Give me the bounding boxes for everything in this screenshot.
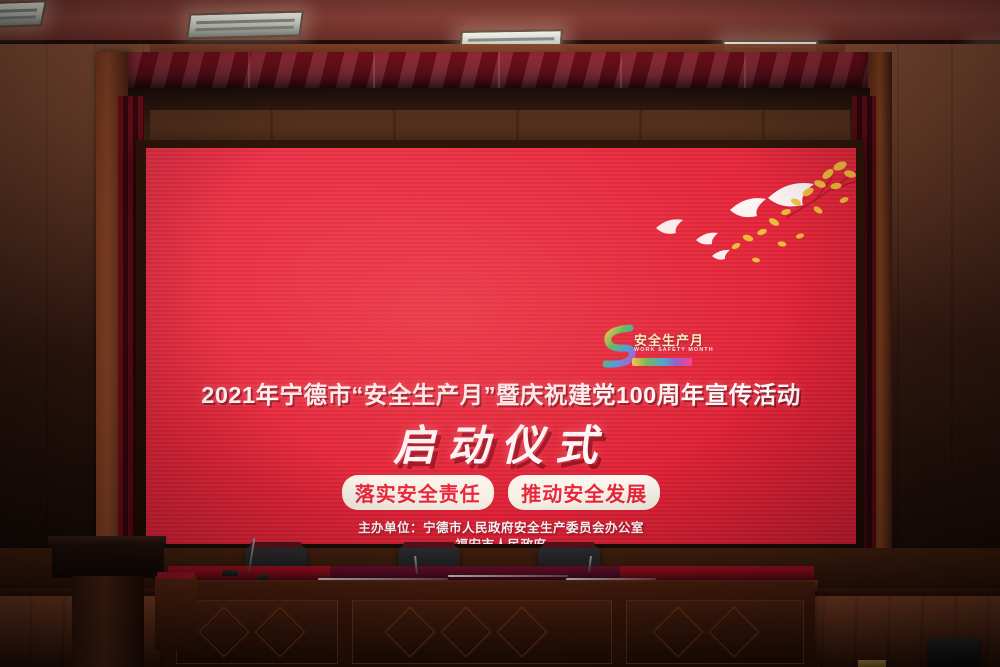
- podium-body: [72, 576, 144, 667]
- event-headline: 2021年宁德市“安全生产月”暨庆祝建党100周年宣传活动: [146, 376, 856, 410]
- cable-1: [318, 578, 448, 580]
- ceiling-light-2: [186, 11, 304, 40]
- ceremony-title: 启动仪式: [146, 412, 856, 473]
- microphone-base-left: [222, 570, 238, 576]
- floor-monitor-speaker: [928, 638, 980, 667]
- side-desk: [155, 576, 197, 650]
- doves-icon: [636, 148, 856, 278]
- dove-branch-decoration: [636, 148, 856, 278]
- led-screen: 安全生产月 WORK SAFETY MONTH 2021年宁德市“安全生产月”暨…: [146, 148, 856, 544]
- logo-english-text: WORK SAFETY MONTH: [634, 347, 714, 353]
- conference-hall-photo: 安全生产月 WORK SAFETY MONTH 2021年宁德市“安全生产月”暨…: [0, 0, 1000, 667]
- side-desk-cloth: [157, 572, 195, 579]
- logo-gradient-bar: [632, 358, 692, 366]
- microphone-base-center: [258, 574, 268, 580]
- stage-valance: [128, 52, 868, 93]
- slogan-1: 落实安全责任: [342, 475, 494, 510]
- podium-head: [52, 544, 164, 578]
- floor-marker: [858, 660, 886, 667]
- slogan-2: 推动安全发展: [508, 475, 660, 510]
- work-safety-month-logo: 安全生产月 WORK SAFETY MONTH: [590, 318, 696, 372]
- ceiling-light-1: [0, 0, 47, 30]
- cable-3: [566, 578, 656, 580]
- cable-2: [448, 575, 568, 577]
- slogan-row: 落实安全责任 推动安全发展: [146, 475, 856, 510]
- organizer-line-1: 主办单位：宁德市人民政府安全生产委员会办公室: [146, 520, 856, 537]
